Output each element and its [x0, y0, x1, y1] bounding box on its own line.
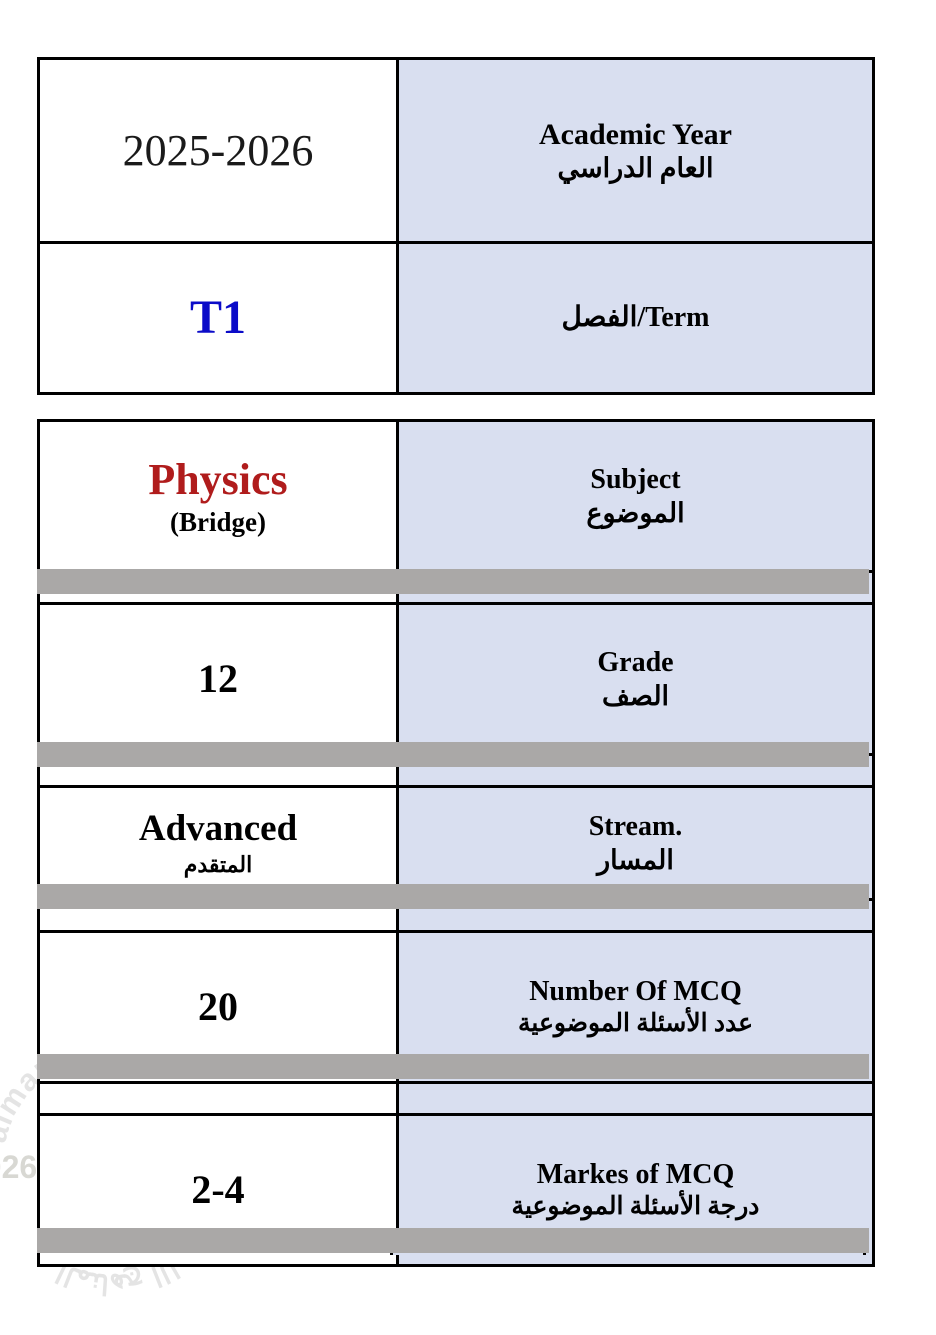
academic-year-label-ar: العام الدراسي [557, 153, 713, 183]
table-row: 2025-2026 Academic Year العام الدراسي [39, 59, 874, 243]
grade-value-cell: 12 [39, 604, 398, 755]
mcq-count-value: 20 [198, 985, 238, 1030]
mcq-marks-label-en: Markes of MCQ [537, 1159, 735, 1190]
separator-cell-right [398, 1083, 874, 1115]
academic-info-table: 2025-2026 Academic Year العام الدراسي T1… [37, 57, 875, 395]
stream-value-cell: Advanced المتقدم [39, 787, 398, 900]
separator-cell-left [39, 1083, 398, 1115]
svg-text:2026: 2026 [0, 1149, 37, 1185]
mcq-marks-label-ar: درجة الأسئلة الموضوعية [512, 1193, 760, 1221]
table-row: Physics (Bridge) Subject الموضوع [39, 421, 874, 572]
stream-value: Advanced [139, 808, 297, 849]
grade-value: 12 [198, 657, 238, 702]
mcq-marks-value: 2-4 [191, 1168, 244, 1213]
academic-year-value-cell: 2025-2026 [39, 59, 398, 243]
row-separator-bar [37, 1054, 869, 1079]
subject-label-cell: Subject الموضوع [398, 421, 874, 572]
grade-label-ar: الصف [602, 681, 669, 711]
subject-value: Physics [148, 455, 287, 504]
table-row: T1 Term/الفصل [39, 243, 874, 394]
grade-label-cell: Grade الصف [398, 604, 874, 755]
table-row: 12 Grade الصف [39, 604, 874, 755]
term-value: T1 [190, 291, 246, 345]
exam-spec-table: Physics (Bridge) Subject الموضوع 12 [37, 419, 875, 1267]
term-label-bilingual: Term/الفصل [561, 302, 709, 333]
row-separator-bar [37, 569, 869, 594]
term-label-cell: Term/الفصل [398, 243, 874, 394]
academic-year-label-en: Academic Year [539, 118, 732, 152]
stream-label-cell: Stream. المسار [398, 787, 874, 900]
subject-label-en: Subject [590, 464, 680, 495]
stream-label-en: Stream. [589, 811, 683, 842]
stream-label-ar: المسار [597, 845, 674, 875]
subject-value-sub: (Bridge) [170, 507, 266, 537]
separator-row [39, 1083, 874, 1115]
mcq-count-label-en: Number Of MCQ [529, 976, 742, 1007]
term-value-cell: T1 [39, 243, 398, 394]
row-separator-bar [37, 884, 869, 909]
academic-year-label-cell: Academic Year العام الدراسي [398, 59, 874, 243]
subject-value-cell: Physics (Bridge) [39, 421, 398, 572]
subject-label-ar: الموضوع [586, 498, 684, 528]
academic-year-value: 2025-2026 [123, 126, 314, 175]
table-row: Advanced المتقدم Stream. المسار [39, 787, 874, 900]
stream-value-sub: المتقدم [184, 853, 252, 878]
mcq-count-label-ar: عدد الأسئلة الموضوعية [518, 1010, 753, 1038]
row-separator-bar [37, 1228, 869, 1253]
grade-label-en: Grade [597, 647, 673, 678]
row-separator-bar [37, 742, 869, 767]
